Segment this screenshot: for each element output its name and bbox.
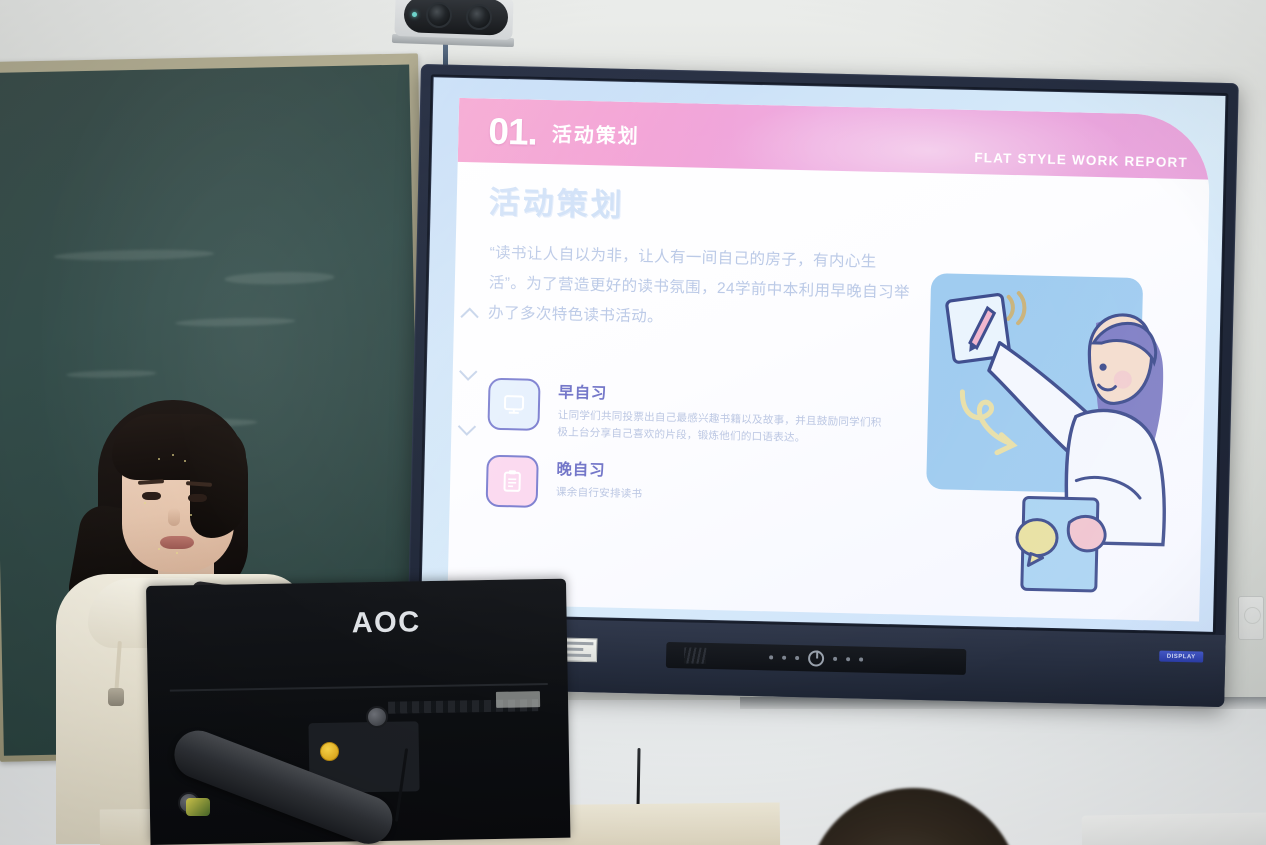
list-item-heading: 早自习 — [558, 380, 888, 410]
slide-bullet-list: 早自习 让同学们共同投票出自己最感兴趣书籍以及故事，并且鼓励同学们积极上台分享自… — [485, 378, 918, 531]
list-item: 早自习 让同学们共同投票出自己最感兴趣书籍以及故事，并且鼓励同学们积极上台分享自… — [487, 378, 918, 451]
camera-led-indicator — [412, 12, 417, 17]
display-brand-badge: DISPLAY — [1159, 651, 1203, 663]
camera-housing — [403, 0, 508, 36]
monitor-sticker — [496, 691, 540, 708]
presenter-eye — [188, 494, 207, 502]
list-item-heading: 晚自习 — [556, 457, 886, 487]
slide-paragraph: “读书让人自以为非，让人有一间自己的房子，有内心生活”。为了营造更好的读书氛围，… — [488, 239, 914, 340]
power-button-icon[interactable] — [808, 650, 824, 666]
list-item: 晚自习 课余自行安排读书 — [486, 455, 917, 517]
control-dot[interactable] — [795, 656, 799, 660]
presenter-nose — [168, 508, 180, 526]
monitor-arm-badge — [320, 742, 339, 761]
list-item-body: 让同学们共同投票出自己最感兴趣书籍以及故事，并且鼓励同学们积极上台分享自己喜欢的… — [557, 407, 888, 450]
presenter-eye — [142, 492, 161, 500]
chevron-down-icon[interactable] — [459, 363, 477, 381]
classroom-photo: 01. 活动策划 FLAT STYLE WORK REPORT 活动策划 “读书… — [0, 0, 1266, 845]
monitor-arm-label — [186, 798, 210, 816]
slide-main-heading: 活动策划 — [488, 177, 625, 225]
woman-raising-card-illustration — [918, 263, 1206, 600]
control-dot[interactable] — [782, 656, 786, 660]
wall-socket — [1238, 596, 1264, 640]
control-dot[interactable] — [769, 655, 773, 659]
slide-content-card: 01. 活动策划 FLAT STYLE WORK REPORT 活动策划 “读书… — [447, 98, 1211, 622]
slide-section-number: 01. — [488, 112, 537, 150]
white-cabinet — [1082, 812, 1266, 845]
presentation-slide[interactable]: 01. 活动策划 FLAT STYLE WORK REPORT 活动策划 “读书… — [421, 77, 1225, 632]
control-dot[interactable] — [846, 657, 850, 661]
drawstring-tip — [108, 688, 124, 706]
list-item-body: 课余自行安排读书 — [556, 484, 886, 509]
aoc-brand-logo: AOC — [351, 606, 421, 640]
presenter-mouth — [160, 536, 194, 549]
speaker-grille-icon — [684, 647, 706, 664]
monitor-arm-joint — [366, 706, 388, 728]
slide-section-title: 活动策划 — [552, 118, 641, 149]
display-brand-label: DISPLAY — [1167, 653, 1196, 660]
control-dot[interactable] — [833, 657, 837, 661]
clipboard-icon — [486, 455, 539, 508]
screen-nav-chevrons[interactable] — [460, 310, 481, 433]
camera-lens-icon — [426, 2, 452, 28]
camera-lens-icon — [466, 4, 492, 30]
monitor-icon — [487, 378, 540, 431]
slide-body: 活动策划 “读书让人自以为非，让人有一间自己的房子，有内心生活”。为了营造更好的… — [447, 162, 1209, 622]
display-screen[interactable]: 01. 活动策划 FLAT STYLE WORK REPORT 活动策划 “读书… — [421, 77, 1225, 632]
chevron-up-icon[interactable] — [460, 308, 478, 326]
control-dot[interactable] — [859, 657, 863, 661]
display-control-panel[interactable] — [666, 642, 967, 675]
